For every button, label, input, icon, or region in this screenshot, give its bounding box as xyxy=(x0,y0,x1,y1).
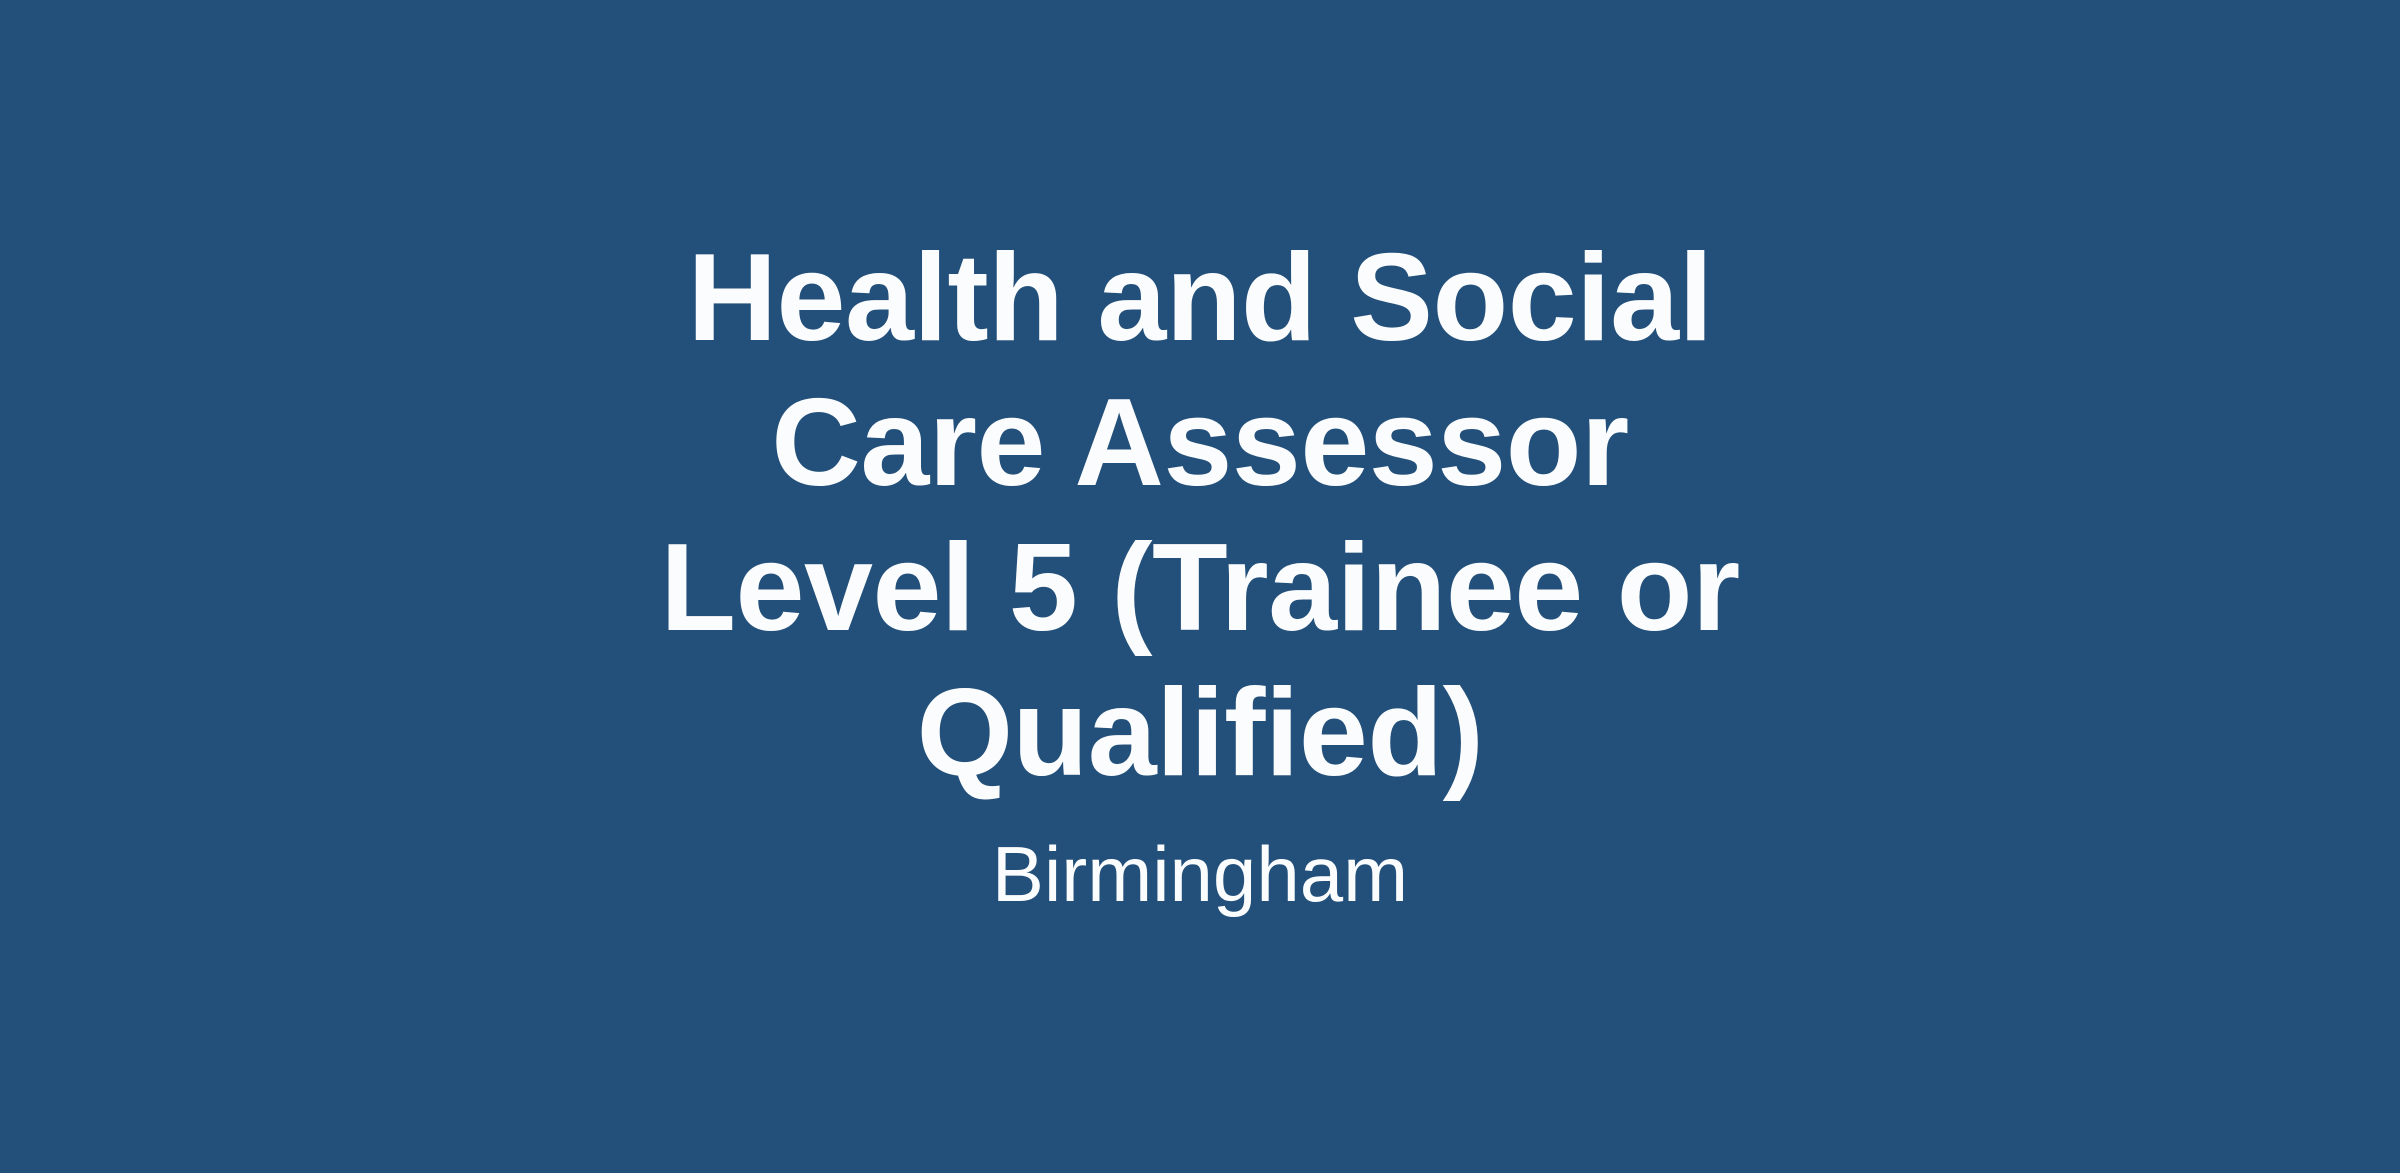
job-title: Health and Social Care Assessor Level 5 … xyxy=(638,226,1763,806)
job-location: Birmingham xyxy=(992,828,1408,922)
hero-content: Health and Social Care Assessor Level 5 … xyxy=(350,226,2050,922)
job-hero-card: Health and Social Care Assessor Level 5 … xyxy=(0,0,2400,1173)
